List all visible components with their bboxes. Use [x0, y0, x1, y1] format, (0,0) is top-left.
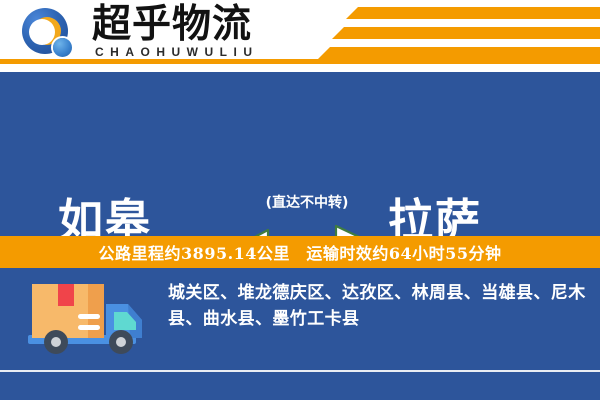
- brand-name-pinyin: CHAOHUWULIU: [95, 45, 259, 59]
- route-panel: 如皋 (直达不中转) 【往返运输】 拉萨: [0, 72, 600, 236]
- speed-stripes-icon: [310, 6, 600, 64]
- delivery-truck-icon: [24, 280, 150, 364]
- distance-duration-bar: 公路里程约3895.14公里 运输时效约64小时55分钟: [0, 236, 600, 268]
- distance-duration-text: 公路里程约3895.14公里 运输时效约64小时55分钟: [99, 240, 502, 264]
- coverage-areas-text: 城关区、堆龙德庆区、达孜区、林周县、当雄县、尼木县、曲水县、墨竹工卡县: [168, 280, 586, 332]
- route-note-top: (直达不中转): [247, 192, 367, 212]
- panel-bottom-rule: [0, 370, 600, 372]
- logistics-route-banner: 超乎物流 CHAOHUWULIU 如皋 (直达不中转) 【往返运输】 拉萨 公路…: [0, 0, 600, 400]
- logo-accent-dot: [53, 38, 72, 57]
- brand-name-cn: 超乎物流: [92, 4, 252, 46]
- header-orange-rule: [0, 59, 600, 64]
- logo-crescent-cutout: [29, 19, 55, 45]
- coverage-panel: 城关区、堆龙德庆区、达孜区、林周县、当雄县、尼木县、曲水县、墨竹工卡县: [0, 268, 600, 400]
- circle-q-logo-icon: [22, 8, 78, 60]
- banner-header: 超乎物流 CHAOHUWULIU: [0, 0, 600, 66]
